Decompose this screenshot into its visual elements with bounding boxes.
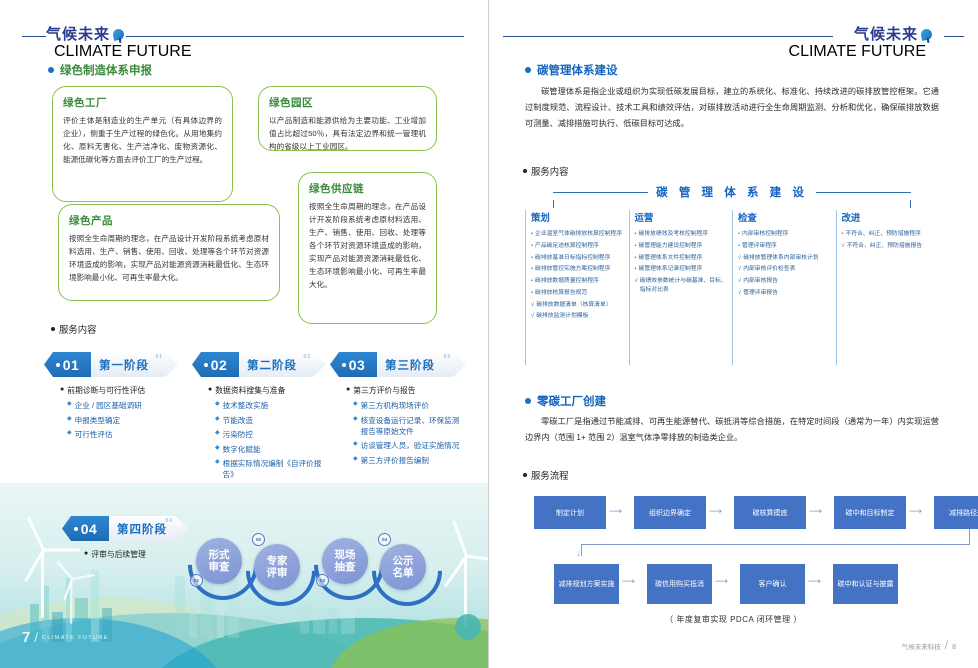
- stage-sub-item: ◆第三方机构现场评价: [346, 400, 466, 411]
- ghost-number: 04: [165, 518, 173, 524]
- stage-header: 04 第四阶段 04: [62, 516, 188, 541]
- stage-label: 第二阶段 02: [239, 352, 326, 377]
- card-body: 按照全生命周期的理念，在产品设计开发阶段系统考虑原材料选用、生产、销售、使用、回…: [309, 200, 426, 291]
- stage-sub-item: ◆污染防控: [208, 429, 326, 440]
- flow-note: （ 年度复审实现 PDCA 闭环管理 ）: [489, 614, 978, 625]
- stage-card-02[interactable]: 02 第二阶段 02 ●数据资料搜集与准备 ◆技术整改实施 ◆节能改造 ◆污染防…: [192, 352, 326, 484]
- dot-icon: [74, 527, 78, 531]
- ghost-number: 02: [303, 354, 311, 360]
- card-title: 绿色供应链: [309, 181, 426, 196]
- review-flow-nodes: 形式审查 01 专家评审 02 现场抽查 03 公示名单 04: [188, 530, 458, 605]
- stage-label: 第一阶段 01: [91, 352, 178, 377]
- flow-box[interactable]: 组织边界确定: [634, 496, 706, 529]
- stage-card-04[interactable]: 04 第四阶段 04 ●评审与后续管理: [62, 516, 188, 564]
- brand-logo-left: 气候未来: [46, 27, 124, 42]
- two-page-spread: 气候未来 CLIMATE FUTURE 绿色制造体系申报 绿色工厂 评价主体是制…: [0, 0, 978, 668]
- flow-box[interactable]: 碳中和认证与披露: [833, 564, 898, 604]
- stage-number-tag: 02: [192, 352, 239, 377]
- stage-card-03[interactable]: 03 第三阶段 03 ●第三方评价与报告 ◆第三方机构现场评价 ◆核查设备运行记…: [330, 352, 466, 469]
- dot-icon: [204, 363, 208, 367]
- dot-icon: [56, 363, 60, 367]
- heading-service-content-left: 服务内容: [51, 322, 97, 336]
- stage-sub-item: ◆企业 / 园区基础调研: [60, 400, 178, 411]
- zero-carbon-flowchart: 制定计划 ⟶ 组织边界确定 ⟶ 碳核算摸底 ⟶ 碳中和目标制定 ⟶ 减排路径规划…: [489, 0, 978, 668]
- footer-company: 气候未来科技: [902, 641, 941, 651]
- stage-number-tag: 03: [330, 352, 377, 377]
- flow-connector: [581, 544, 582, 556]
- stage-main-item: ●前期诊断与可行性评估: [60, 385, 178, 396]
- flow-connector: [581, 544, 970, 545]
- review-node-01[interactable]: 形式审查: [196, 538, 242, 584]
- flow-arrow-icon: ⟶: [809, 506, 822, 517]
- review-node-02[interactable]: 专家评审: [254, 544, 300, 590]
- footer-left: 7 / CLIMATE FUTURE: [22, 629, 109, 646]
- page-number: 8: [952, 644, 956, 651]
- flow-arrow-icon: ⟶: [909, 506, 922, 517]
- flow-box[interactable]: 碳中和目标制定: [834, 496, 906, 529]
- leaf-icon: [112, 28, 125, 41]
- flow-box[interactable]: 客户确认: [740, 564, 805, 604]
- flow-arrow-down-icon: ↓: [576, 548, 581, 558]
- footer-right: 气候未来科技 / 8: [902, 638, 956, 652]
- ghost-number: 01: [155, 354, 163, 360]
- stage-label: 第四阶段 04: [109, 516, 188, 541]
- stage-header: 03 第三阶段 03: [330, 352, 466, 377]
- right-page: 气候未来 CLIMATE FUTURE 碳管理体系建设 碳管理体系是指企业或组织…: [489, 0, 978, 668]
- stage-header: 02 第二阶段 02: [192, 352, 326, 377]
- card-body: 以产品制造和能源供给为主要功能、工业增加值占比超过50％，具有法定边界和统一管理…: [269, 114, 426, 153]
- stage-sub-item: ◆节能改造: [208, 415, 326, 426]
- stage-sub-item: ◆技术整改实施: [208, 400, 326, 411]
- stage-main-item: ●评审与后续管理: [84, 549, 188, 560]
- stage-sub-item: ◆申报类型确定: [60, 415, 178, 426]
- node-badge: 03: [316, 574, 329, 587]
- brand-slogan-left: CLIMATE FUTURE: [54, 43, 191, 61]
- ghost-number: 03: [443, 354, 451, 360]
- stage-sub-item: ◆根据实际情况编制《自评价报告》: [208, 458, 326, 480]
- flow-arrow-icon: ⟶: [622, 576, 635, 587]
- card-body: 评价主体是制造业的生产单元（有具体边界的企业），侧重于生产过程的绿色化。从用地集…: [63, 114, 222, 166]
- stage-label: 第三阶段 03: [377, 352, 466, 377]
- node-badge: 02: [252, 533, 265, 546]
- stage-sub-item: ◆数字化赋能: [208, 444, 326, 455]
- flow-arrow-icon: ⟶: [715, 576, 728, 587]
- stage-header: 01 第一阶段 01: [44, 352, 178, 377]
- stage-card-01[interactable]: 01 第一阶段 01 ●前期诊断与可行性评估 ◆企业 / 园区基础调研 ◆申报类…: [44, 352, 178, 444]
- review-node-03[interactable]: 现场抽查: [322, 538, 368, 584]
- footer-slogan: CLIMATE FUTURE: [42, 635, 109, 641]
- card-body: 按照全生命周期的理念，在产品设计开发阶段系统考虑原材料选用、生产、销售、使用、回…: [69, 232, 269, 284]
- stage-sub-item: ◆访谈管理人员，验证实施情况: [346, 440, 466, 451]
- stage-body: ●评审与后续管理: [62, 541, 188, 560]
- stage-body: ●数据资料搜集与准备 ◆技术整改实施 ◆节能改造 ◆污染防控 ◆数字化赋能 ◆根…: [192, 377, 326, 480]
- rule-left-a: [22, 36, 46, 37]
- flow-arrow-icon: ⟶: [609, 506, 622, 517]
- flow-box[interactable]: 减排规划方案实施: [554, 564, 619, 604]
- bullet-icon: [51, 327, 55, 331]
- stage-number-tag: 01: [44, 352, 91, 377]
- flow-arrow-icon: ⟶: [709, 506, 722, 517]
- card-green-park: 绿色园区 以产品制造和能源供给为主要功能、工业增加值占比超过50％，具有法定边界…: [258, 86, 437, 151]
- flow-box[interactable]: 减排路径规划: [934, 496, 978, 529]
- flow-box[interactable]: 碳核算摸底: [734, 496, 806, 529]
- left-page: 气候未来 CLIMATE FUTURE 绿色制造体系申报 绿色工厂 评价主体是制…: [0, 0, 489, 668]
- stage-sub-item: ◆可行性评估: [60, 429, 178, 440]
- stage-main-item: ●第三方评价与报告: [346, 385, 466, 396]
- rule-left-b: [126, 36, 464, 37]
- page-number: 7: [22, 629, 30, 646]
- card-green-product: 绿色产品 按照全生命周期的理念，在产品设计开发阶段系统考虑原材料选用、生产、销售…: [58, 204, 280, 301]
- card-title: 绿色园区: [269, 95, 426, 110]
- bullet-icon: [48, 67, 54, 73]
- stage-number-tag: 04: [62, 516, 109, 541]
- wind-turbine-icon: [22, 552, 44, 618]
- card-green-supply-chain: 绿色供应链 按照全生命周期的理念，在产品设计开发阶段系统考虑原材料选用、生产、销…: [298, 172, 437, 324]
- flow-connector: [969, 529, 970, 545]
- dot-icon: [342, 363, 346, 367]
- card-title: 绿色工厂: [63, 95, 222, 110]
- card-green-factory: 绿色工厂 评价主体是制造业的生产单元（有具体边界的企业），侧重于生产过程的绿色化…: [52, 86, 233, 202]
- flow-box[interactable]: 碳信用购买抵消: [647, 564, 712, 604]
- node-badge: 01: [190, 574, 203, 587]
- section-title-green-manufacturing: 绿色制造体系申报: [48, 62, 152, 78]
- flow-box[interactable]: 制定计划: [534, 496, 606, 529]
- node-badge: 04: [378, 533, 391, 546]
- flow-arrow-icon: ⟶: [808, 576, 821, 587]
- stage-sub-item: ◆核查设备运行记录、环保监测报告等原始文件: [346, 415, 466, 437]
- stage-sub-item: ◆第三方评价报告编制: [346, 455, 466, 466]
- brand-name-cn: 气候未来: [46, 27, 110, 42]
- document-spread: 气候未来 CLIMATE FUTURE 绿色制造体系申报 绿色工厂 评价主体是制…: [0, 0, 978, 668]
- card-title: 绿色产品: [69, 213, 269, 228]
- decor-circle: [455, 614, 481, 640]
- stage-main-item: ●数据资料搜集与准备: [208, 385, 326, 396]
- wind-turbine-icon: [59, 580, 73, 623]
- stage-body: ●第三方评价与报告 ◆第三方机构现场评价 ◆核查设备运行记录、环保监测报告等原始…: [330, 377, 466, 466]
- footer-separator: /: [945, 638, 948, 652]
- review-node-04[interactable]: 公示名单: [380, 544, 426, 590]
- stage-body: ●前期诊断与可行性评估 ◆企业 / 园区基础调研 ◆申报类型确定 ◆可行性评估: [44, 377, 178, 440]
